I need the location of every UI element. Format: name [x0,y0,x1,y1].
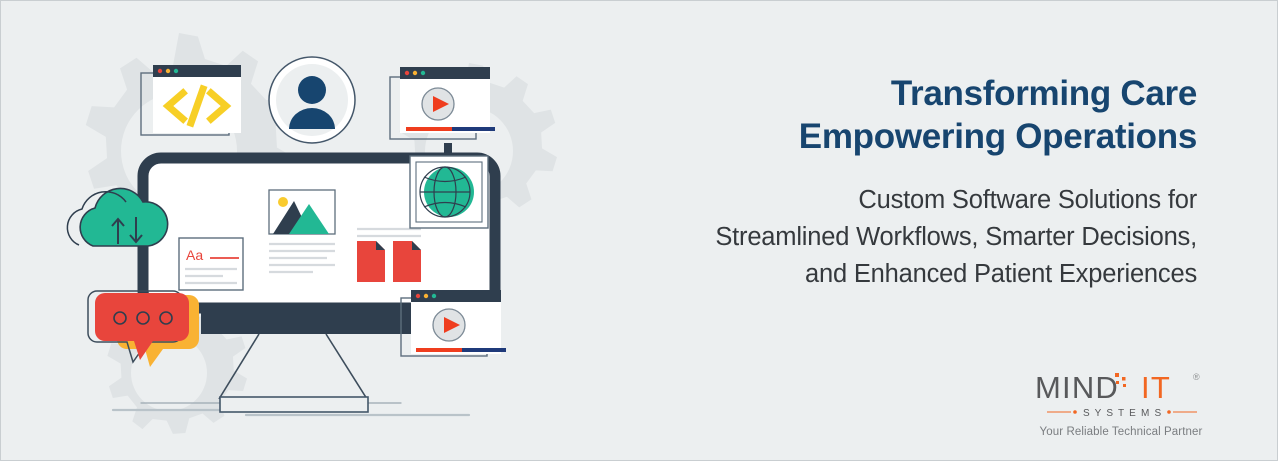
text-card: Aa [179,238,243,290]
logo-it-text: IT [1141,371,1171,405]
logo-wordmark: MIND IT ® [1033,371,1209,405]
subhead-line-3: and Enhanced Patient Experiences [557,256,1197,293]
subhead-line-1: Custom Software Solutions for [557,182,1197,219]
image-thumbnail-card [269,190,335,234]
video-player-window-top [390,67,495,139]
user-avatar [269,57,355,143]
logo-mind-text: MIND [1035,371,1119,405]
video-player-window-bottom [401,290,506,356]
subhead-line-2: Streamlined Workflows, Smarter Decisions… [557,219,1197,256]
globe-window [410,156,488,228]
page-title: Transforming Care Empowering Operations [557,73,1197,158]
logo-tagline: Your Reliable Technical Partner [1033,426,1209,438]
logo-systems-row: S Y S T E M S [1033,405,1209,424]
registered-mark-icon: ® [1193,372,1200,382]
marketing-banner: Aa [0,0,1278,461]
hero-text-block: Transforming Care Empowering Operations … [557,73,1197,293]
logo-systems-text: S Y S T E M S [1083,408,1162,419]
page-subtitle: Custom Software Solutions for Streamline… [557,182,1197,293]
headline-line-1: Transforming Care [557,73,1197,116]
code-window [141,65,241,135]
company-logo[interactable]: MIND IT ® S Y S T E M S Your Reliable [1033,371,1209,438]
hero-illustration: Aa [1,1,561,461]
svg-text:Aa: Aa [186,247,203,263]
headline-line-2: Empowering Operations [557,116,1197,159]
